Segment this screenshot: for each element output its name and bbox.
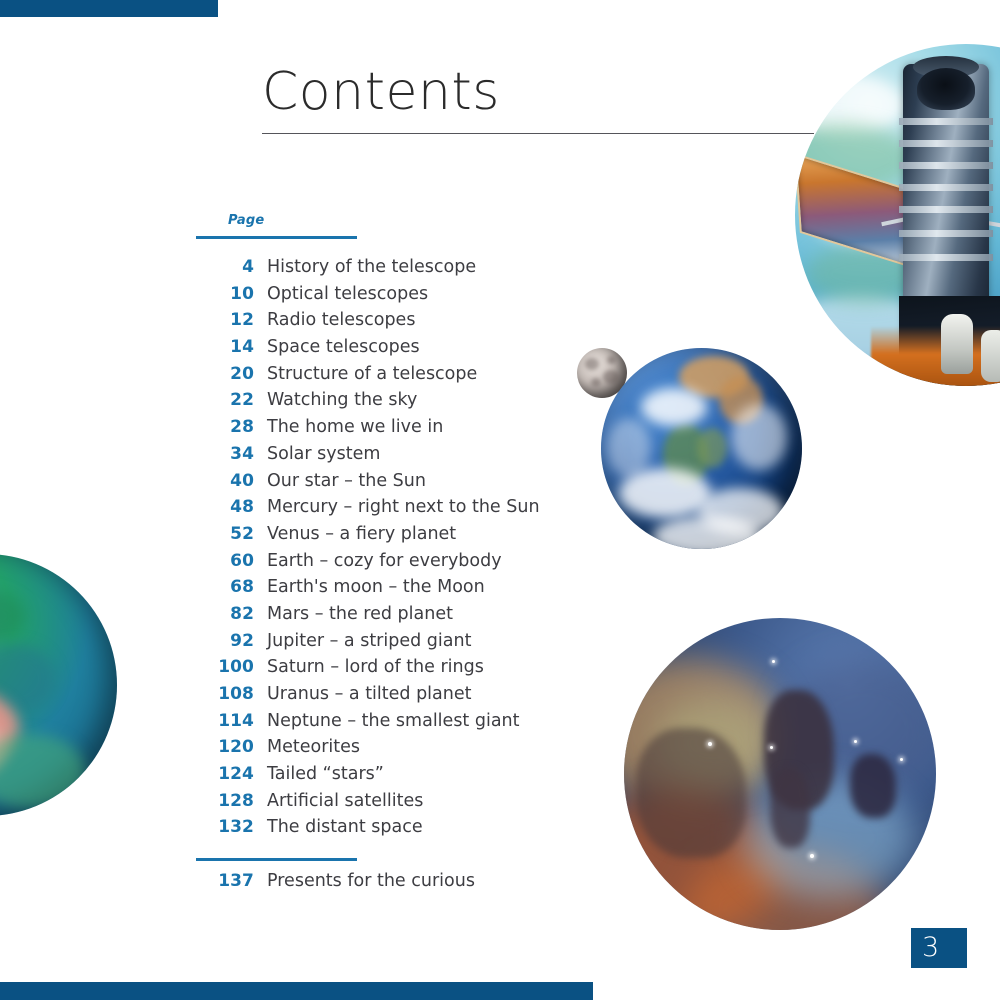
contents-entry[interactable]: 82Mars – the red planet — [196, 604, 616, 631]
contents-entry[interactable]: 92Jupiter – a striped giant — [196, 631, 616, 658]
contents-entry-title: The distant space — [267, 817, 423, 837]
contents-entry-title: Meteorites — [267, 737, 360, 757]
astronaut-figure-second — [981, 330, 1000, 382]
contents-entry-title: Tailed “stars” — [267, 764, 384, 784]
contents-entry-title: Uranus – a tilted planet — [267, 684, 472, 704]
contents-entry-page: 34 — [196, 444, 254, 464]
page-column-rule — [196, 236, 357, 239]
contents-entry-title: Jupiter – a striped giant — [267, 631, 471, 651]
contents-entry-title: Artificial satellites — [267, 791, 423, 811]
earth-image — [601, 348, 802, 549]
page-number-badge: 3 — [911, 928, 967, 968]
table-of-contents: 4History of the telescope10Optical teles… — [196, 257, 616, 844]
contents-entry[interactable]: 68Earth's moon – the Moon — [196, 577, 616, 604]
contents-entry-title: Radio telescopes — [267, 310, 415, 330]
nebula-image — [624, 618, 936, 930]
contents-entry-title: Mars – the red planet — [267, 604, 453, 624]
contents-entry-page: 114 — [196, 711, 254, 731]
contents-entry-page: 52 — [196, 524, 254, 544]
contents-entry-page: 14 — [196, 337, 254, 357]
contents-divider — [196, 858, 357, 861]
top-accent-bar — [0, 0, 218, 17]
contents-entry-page: 4 — [196, 257, 254, 277]
contents-entry-title: Our star – the Sun — [267, 471, 426, 491]
contents-entry[interactable]: 12Radio telescopes — [196, 310, 616, 337]
contents-entry[interactable]: 28The home we live in — [196, 417, 616, 444]
venus-radar-map-image — [0, 554, 117, 816]
contents-entry-page: 40 — [196, 471, 254, 491]
contents-entry-page: 108 — [196, 684, 254, 704]
contents-entry-title: Watching the sky — [267, 390, 417, 410]
contents-entry-page: 120 — [196, 737, 254, 757]
contents-entry[interactable]: 124Tailed “stars” — [196, 764, 616, 791]
contents-entry[interactable]: 60Earth – cozy for everybody — [196, 551, 616, 578]
contents-entry-title: Solar system — [267, 444, 380, 464]
bottom-accent-bar — [0, 982, 593, 1000]
contents-entry-title: Neptune – the smallest giant — [267, 711, 520, 731]
contents-entry[interactable]: 10Optical telescopes — [196, 284, 616, 311]
contents-entry-page: 60 — [196, 551, 254, 571]
contents-entry-page: 12 — [196, 310, 254, 330]
contents-entry[interactable]: 108Uranus – a tilted planet — [196, 684, 616, 711]
book-contents-page: Contents Page 4History of the telescope1… — [0, 0, 1000, 1000]
contents-entry-page: 20 — [196, 364, 254, 384]
contents-entry[interactable]: 40Our star – the Sun — [196, 471, 616, 498]
contents-entry-page: 22 — [196, 390, 254, 410]
contents-entry[interactable]: 132The distant space — [196, 817, 616, 844]
contents-entry-title: Space telescopes — [267, 337, 420, 357]
astronaut-figure — [941, 314, 973, 374]
contents-entry-title: Venus – a fiery planet — [267, 524, 456, 544]
contents-entry-page: 82 — [196, 604, 254, 624]
hubble-space-telescope-image — [795, 44, 1000, 386]
page-number-text: 3 — [922, 934, 939, 961]
contents-entry[interactable]: 137Presents for the curious — [196, 871, 616, 898]
contents-entry-title: History of the telescope — [267, 257, 476, 277]
contents-entry[interactable]: 4History of the telescope — [196, 257, 616, 284]
contents-entry-page: 128 — [196, 791, 254, 811]
contents-entry[interactable]: 48Mercury – right next to the Sun — [196, 497, 616, 524]
contents-entry-page: 68 — [196, 577, 254, 597]
contents-entry-title: The home we live in — [267, 417, 443, 437]
contents-entry[interactable]: 128Artificial satellites — [196, 791, 616, 818]
contents-entry-page: 137 — [196, 871, 254, 891]
table-of-contents-extra: 137Presents for the curious — [196, 871, 616, 898]
page-title: Contents — [262, 66, 500, 118]
contents-entry[interactable]: 34Solar system — [196, 444, 616, 471]
contents-entry-page: 92 — [196, 631, 254, 651]
contents-entry-page: 124 — [196, 764, 254, 784]
contents-entry[interactable]: 52Venus – a fiery planet — [196, 524, 616, 551]
page-column-header: Page — [228, 213, 264, 228]
contents-entry[interactable]: 120Meteorites — [196, 737, 616, 764]
contents-entry-page: 48 — [196, 497, 254, 517]
contents-entry-title: Earth – cozy for everybody — [267, 551, 502, 571]
contents-entry-page: 132 — [196, 817, 254, 837]
contents-entry-title: Saturn – lord of the rings — [267, 657, 484, 677]
contents-entry-title: Earth's moon – the Moon — [267, 577, 485, 597]
hubble-aperture — [917, 68, 975, 110]
contents-entry[interactable]: 114Neptune – the smallest giant — [196, 711, 616, 738]
contents-entry[interactable]: 22Watching the sky — [196, 390, 616, 417]
contents-entry[interactable]: 14Space telescopes — [196, 337, 616, 364]
contents-entry-page: 28 — [196, 417, 254, 437]
contents-entry[interactable]: 20Structure of a telescope — [196, 364, 616, 391]
contents-entry-page: 100 — [196, 657, 254, 677]
contents-entry[interactable]: 100Saturn – lord of the rings — [196, 657, 616, 684]
contents-entry-page: 10 — [196, 284, 254, 304]
title-rule — [262, 133, 814, 134]
contents-entry-title: Structure of a telescope — [267, 364, 477, 384]
contents-entry-title: Mercury – right next to the Sun — [267, 497, 540, 517]
contents-entry-title: Presents for the curious — [267, 871, 475, 891]
contents-entry-title: Optical telescopes — [267, 284, 428, 304]
